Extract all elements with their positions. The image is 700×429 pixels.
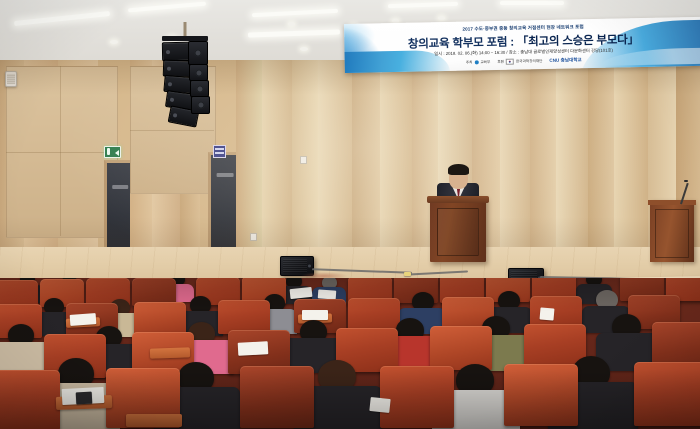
handout-paper [70,313,97,326]
seat-tablet-arm[interactable] [126,414,182,427]
side-podium-microphone [684,180,688,182]
side-podium [650,200,694,262]
auditorium-photo: 2017 수도·중부권 중등 창의교육 거점센터 현장 네트워크 포럼 창의교육… [0,0,700,429]
seat[interactable] [134,302,186,336]
banner-support-name: 한국과학창의재단 [516,59,543,65]
handout-paper [302,310,328,320]
banner-university: CNU 충남대학교 [549,57,581,64]
ceiling-light-strip [128,2,206,13]
seat[interactable] [0,370,60,429]
seat[interactable] [634,362,700,426]
ceiling-downlight [288,22,295,26]
banner-host-label: 주최 [466,60,473,65]
ceiling-downlight [110,40,118,44]
seat[interactable] [380,366,454,428]
ceiling-light-strip [388,2,458,8]
room-number-sign [213,145,226,158]
wall-outlet [250,233,257,241]
seat[interactable] [348,298,400,332]
ceiling-light-strip [252,9,338,17]
ceiling-downlight [300,47,308,51]
banner-support-group: 후원 한국과학창의재단 [497,58,542,65]
seat-tablet-arm[interactable] [150,347,190,358]
banner-host-name: 교육부 [480,60,490,65]
banner-support-label: 후원 [497,59,504,64]
ceiling-light-strip [500,1,564,5]
ministry-logo-icon [474,60,478,64]
seat[interactable] [218,300,270,334]
line-array-rigging-point [400,0,422,8]
smartphone[interactable] [76,392,93,405]
seat[interactable] [504,364,578,426]
banner-host-group: 주최 교육부 [466,60,491,65]
ceiling-downlight [438,16,445,20]
seat[interactable] [430,326,492,370]
ceiling-light-strip [248,29,340,37]
audience-seating-area [0,278,700,429]
banner-title-right: 「최고의 스승은 부모다」 [517,34,639,48]
wall-outlet [300,156,307,164]
floor-tape-marker [404,272,411,276]
seat[interactable] [240,366,314,428]
korea-flag-icon [506,59,514,65]
handout-paper [540,307,555,320]
line-array-speaker-cluster-left [162,24,208,128]
handout-paper [238,341,269,356]
back-wall [0,60,700,278]
presenter-hair [448,164,469,175]
event-banner: 2017 수도·중부권 중등 창의교육 거점센터 현장 네트워크 포럼 창의교육… [344,17,700,73]
banner-title-left: 창의교육 학부모 포럼 : [408,37,514,51]
wall-mounted-speaker [5,71,17,87]
handout-paper [369,397,390,413]
ceiling-light-strip [14,11,110,26]
main-podium [430,196,486,262]
exit-sign-left [104,146,121,158]
